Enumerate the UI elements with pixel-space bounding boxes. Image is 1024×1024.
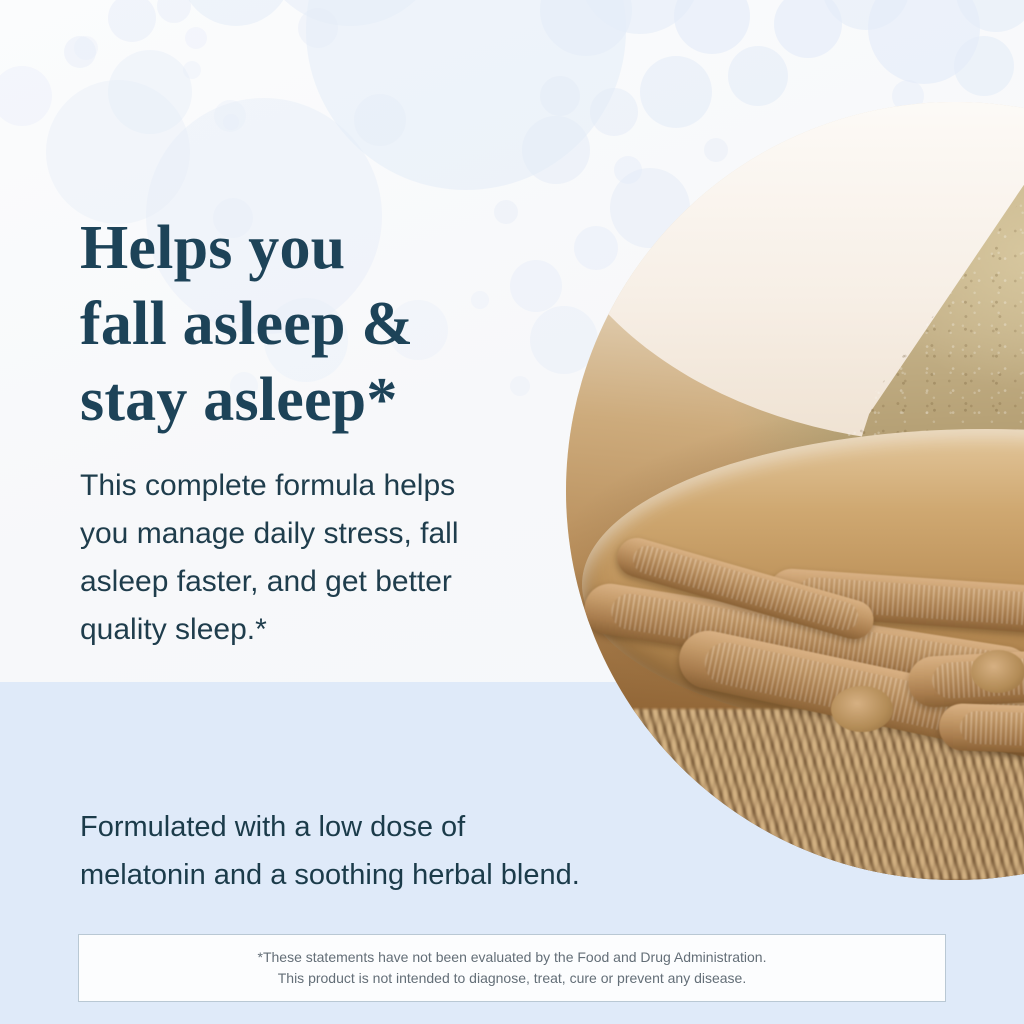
fda-disclaimer-box: *These statements have not been evaluate… xyxy=(78,934,946,1002)
subcopy-line: This complete formula helps xyxy=(80,462,510,510)
bubble-circle xyxy=(183,61,201,79)
bubble-circle xyxy=(74,36,98,60)
bubble-circle xyxy=(0,66,52,126)
subcopy-line: quality sleep.* xyxy=(80,606,510,654)
headline-line: stay asleep* xyxy=(80,362,560,438)
bubble-circle xyxy=(954,36,1014,96)
disclaimer-line: *These statements have not been evaluate… xyxy=(258,947,767,968)
disclaimer-line: This product is not intended to diagnose… xyxy=(278,968,747,989)
photo-inner xyxy=(566,102,1024,880)
herbal-powder-photo xyxy=(566,102,1024,880)
headline-line: fall asleep & xyxy=(80,286,560,362)
bubble-circle xyxy=(157,0,191,23)
bubble-circle xyxy=(674,0,750,54)
bubble-circle xyxy=(180,0,292,26)
lower-copy-line: Formulated with a low dose of xyxy=(80,803,680,851)
lower-copy-line: melatonin and a soothing herbal blend. xyxy=(80,851,680,899)
bubble-circle xyxy=(108,0,156,42)
supporting-paragraph: This complete formula helps you manage d… xyxy=(80,462,510,654)
bubble-circle xyxy=(728,46,788,106)
licorice-root-end xyxy=(971,650,1024,693)
promo-graphic: Helps you fall asleep & stay asleep* Thi… xyxy=(0,0,1024,1024)
headline-line: Helps you xyxy=(80,210,560,286)
bubble-circle xyxy=(354,94,406,146)
bubble-circle xyxy=(185,27,207,49)
page-title: Helps you fall asleep & stay asleep* xyxy=(80,210,560,438)
licorice-root-end xyxy=(831,686,893,733)
subcopy-line: asleep faster, and get better xyxy=(80,558,510,606)
formulation-paragraph: Formulated with a low dose of melatonin … xyxy=(80,803,680,899)
subcopy-line: you manage daily stress, fall xyxy=(80,510,510,558)
bubble-circle xyxy=(223,114,239,130)
